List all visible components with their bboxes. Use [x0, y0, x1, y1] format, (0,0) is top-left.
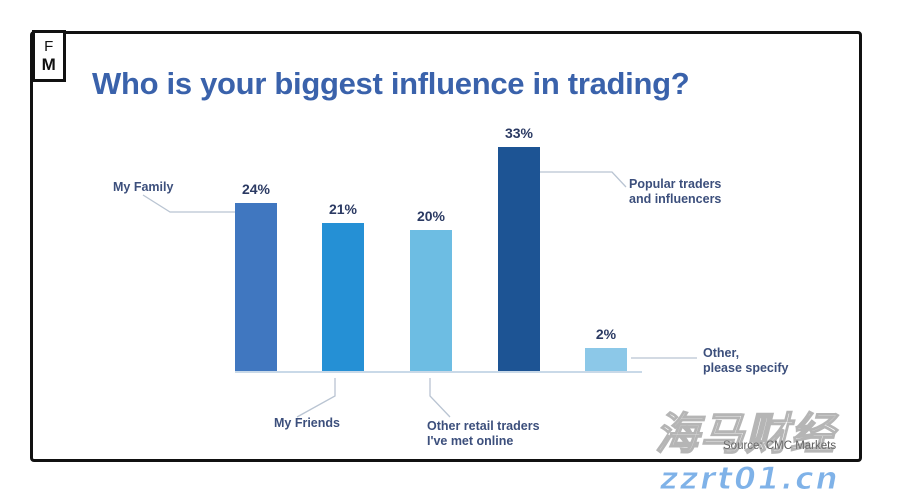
leader-my-family — [143, 195, 235, 212]
bar-4 — [498, 147, 540, 371]
bar-3 — [410, 230, 452, 371]
callout-label-2: My Friends — [274, 416, 340, 431]
callout-label-1: My Family — [113, 180, 173, 195]
leader-my-friends — [297, 378, 335, 417]
leader-other-retail — [430, 378, 450, 417]
watermark-url: zzrt01.cn — [660, 461, 840, 497]
bar-5 — [585, 348, 627, 371]
bar-1 — [235, 203, 277, 371]
value-label-2: 21% — [302, 201, 384, 217]
bar-2 — [322, 223, 364, 371]
value-label-4: 33% — [478, 125, 560, 141]
callout-label-5: Other, please specify — [703, 346, 788, 376]
callout-label-4: Popular traders and influencers — [629, 177, 721, 207]
value-label-1: 24% — [215, 181, 297, 197]
leader-popular-traders — [540, 172, 626, 187]
value-label-5: 2% — [565, 326, 647, 342]
chart-canvas: F M Who is your biggest influence in tra… — [0, 0, 900, 499]
watermark-chinese: 海马财经 — [655, 398, 835, 462]
axis-baseline — [235, 371, 642, 373]
value-label-3: 20% — [390, 208, 472, 224]
callout-label-3: Other retail traders I've met online — [427, 419, 540, 449]
